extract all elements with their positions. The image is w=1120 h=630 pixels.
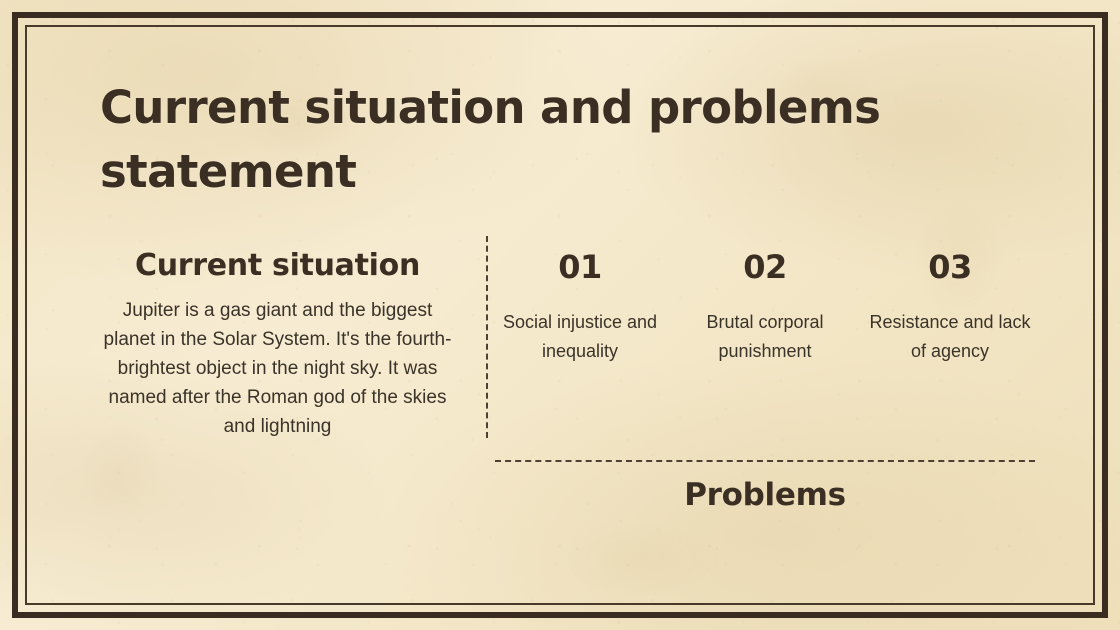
slide-title: Current situation and problems statement bbox=[100, 76, 980, 204]
vertical-dashed-divider bbox=[486, 236, 488, 438]
current-situation-heading: Current situation bbox=[95, 248, 460, 284]
presentation-slide: Current situation and problems statement… bbox=[0, 0, 1120, 630]
problems-columns: 01 Social injustice and inequality 02 Br… bbox=[495, 248, 1035, 366]
current-situation-panel: Current situation Jupiter is a gas giant… bbox=[95, 248, 460, 441]
problem-column-01: 01 Social injustice and inequality bbox=[495, 248, 665, 366]
horizontal-dashed-divider bbox=[495, 460, 1035, 462]
slide-content: Current situation and problems statement… bbox=[0, 0, 1120, 630]
problem-column-02: 02 Brutal corporal punishment bbox=[680, 248, 850, 366]
problem-number-02: 02 bbox=[680, 248, 850, 286]
problems-heading: Problems bbox=[495, 476, 1035, 514]
problem-text-03: Resistance and lack of agency bbox=[865, 308, 1035, 366]
problem-text-02: Brutal corporal punishment bbox=[680, 308, 850, 366]
problem-text-01: Social injustice and inequality bbox=[495, 308, 665, 366]
problem-number-03: 03 bbox=[865, 248, 1035, 286]
problem-column-03: 03 Resistance and lack of agency bbox=[865, 248, 1035, 366]
problem-number-01: 01 bbox=[495, 248, 665, 286]
current-situation-body-text: Jupiter is a gas giant and the biggest p… bbox=[95, 296, 460, 441]
